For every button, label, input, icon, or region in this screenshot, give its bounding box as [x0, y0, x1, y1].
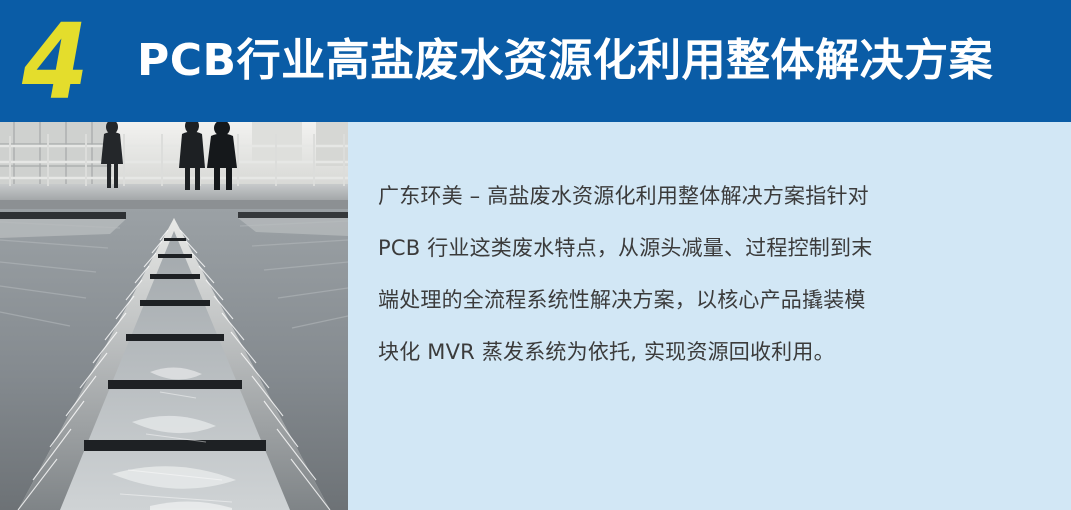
page-title: PCB行业高盐废水资源化利用整体解决方案	[137, 34, 993, 88]
description-line: 广东环美 – 高盐废水资源化利用整体解决方案指针对	[378, 170, 1038, 222]
description-line: PCB 行业这类废水特点，从源头减量、过程控制到末	[378, 222, 1038, 274]
wastewater-plant-photo	[0, 122, 348, 510]
header-band: 4 PCB行业高盐废水资源化利用整体解决方案	[0, 0, 1071, 122]
page-root: 4 PCB行业高盐废水资源化利用整体解决方案	[0, 0, 1071, 510]
description-line: 端处理的全流程系统性解决方案，以核心产品撬装模	[378, 274, 1038, 326]
photo-illustration	[0, 122, 348, 510]
description-panel: 广东环美 – 高盐废水资源化利用整体解决方案指针对 PCB 行业这类废水特点，从…	[348, 122, 1071, 510]
description-line: 块化 MVR 蒸发系统为依托, 实现资源回收利用。	[378, 326, 1038, 378]
section-number: 4	[22, 6, 85, 118]
solution-description: 广东环美 – 高盐废水资源化利用整体解决方案指针对 PCB 行业这类废水特点，从…	[378, 170, 1038, 378]
